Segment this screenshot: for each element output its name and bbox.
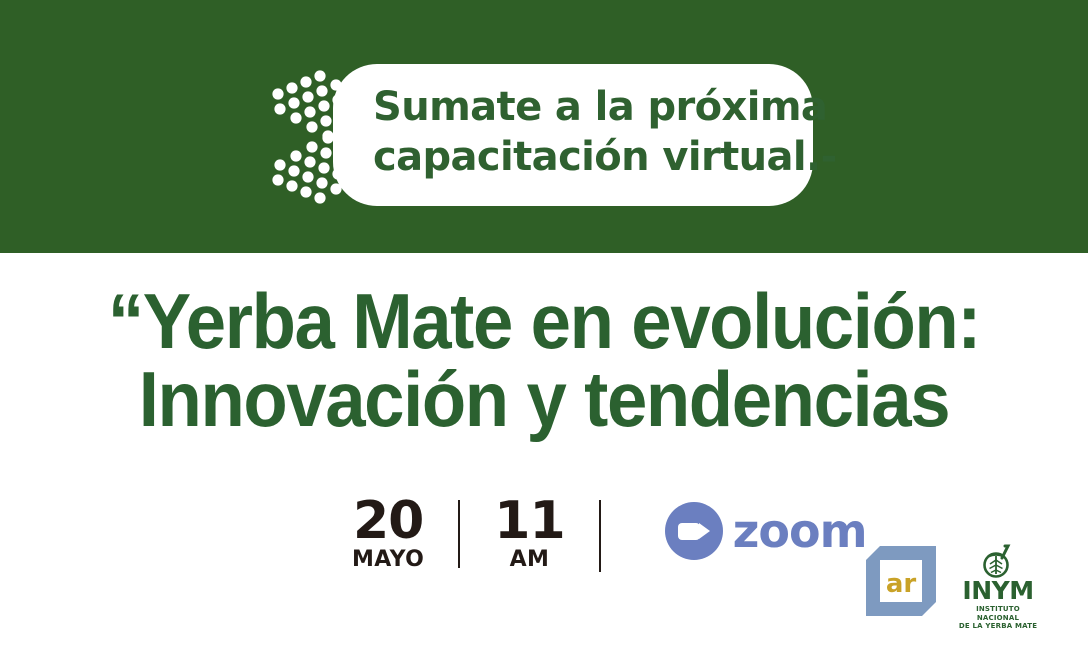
event-day-number: 20 (353, 496, 423, 546)
divider-1 (458, 500, 460, 568)
banner-headline-line-2: capacitación virtual.- (373, 132, 803, 182)
banner-headline: Sumate a la próxima capacitación virtual… (373, 82, 803, 182)
event-time-number: 11 (494, 496, 564, 546)
inym-wordmark: INYM (958, 578, 1038, 604)
divider-2 (599, 500, 601, 572)
zoom-video-camera-icon (665, 502, 723, 560)
argentina-ar-cube-icon: ar (866, 546, 936, 616)
mate-gourd-icon (958, 544, 1038, 578)
page-title: “Yerba Mate en evolución: Innovación y t… (38, 282, 1050, 438)
inym-logo: INYM INSTITUTO NACIONAL DE LA YERBA MATE (958, 544, 1038, 620)
page-title-line-2: Innovación y tendencias (38, 360, 1050, 438)
event-details-row: 20 MAYO 11 AM zoom (352, 496, 867, 576)
svg-text:ar: ar (886, 569, 917, 599)
promotional-poster: Sumate a la próxima capacitación virtual… (0, 0, 1088, 650)
inym-subtitle: INSTITUTO NACIONAL DE LA YERBA MATE (958, 605, 1038, 631)
inym-subtitle-line-1: INSTITUTO NACIONAL (958, 605, 1038, 622)
banner-headline-line-1: Sumate a la próxima (373, 82, 803, 132)
inym-subtitle-line-2: DE LA YERBA MATE (958, 622, 1038, 631)
page-title-line-1: “Yerba Mate en evolución: (38, 282, 1050, 360)
event-date: 20 MAYO (352, 496, 424, 572)
event-time-period: AM (510, 548, 550, 572)
zoom-wordmark: zoom (733, 508, 867, 554)
zoom-platform-lockup: zoom (665, 502, 867, 560)
event-time: 11 AM (494, 496, 564, 572)
event-month-label: MAYO (352, 548, 424, 572)
